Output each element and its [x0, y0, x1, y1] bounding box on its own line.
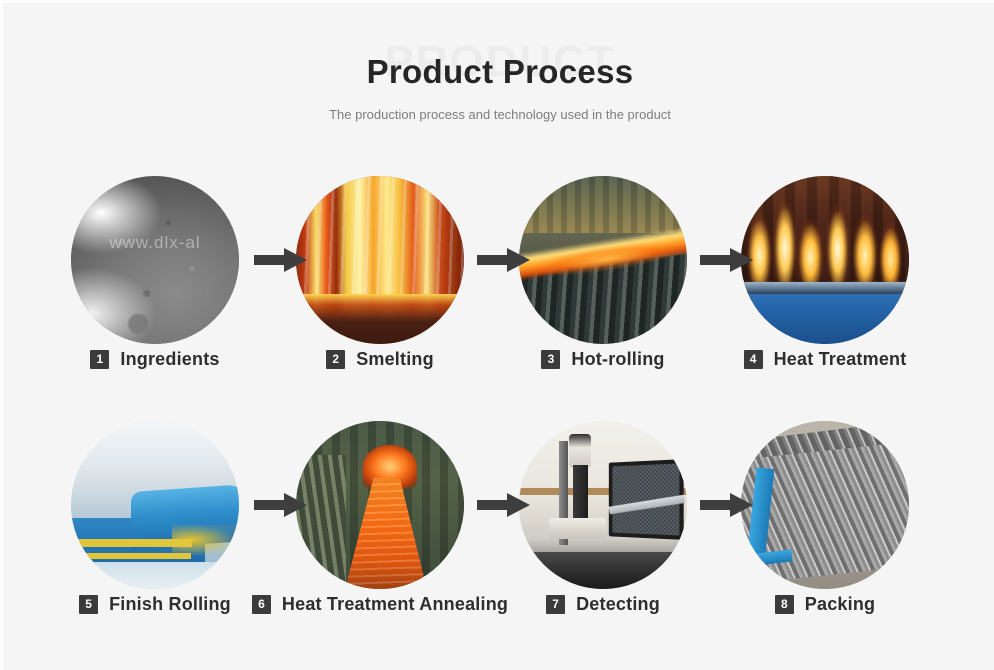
- micrograph-screen: [613, 464, 681, 537]
- step-image-ingredients: www.dlx-al: [71, 176, 239, 344]
- step-label-1: 1 Ingredients: [55, 349, 255, 370]
- step-label-text: Hot-rolling: [571, 349, 664, 370]
- packed-steel-bars-image: [741, 421, 909, 589]
- furnace-flames-image: [741, 176, 909, 344]
- process-step-8[interactable]: 8 Packing: [725, 408, 925, 658]
- desk: [519, 552, 687, 589]
- arrow-right-icon: [700, 492, 754, 518]
- step-number-badge: 6: [252, 595, 271, 614]
- step-label-text: Detecting: [576, 594, 660, 615]
- step-label-text: Smelting: [356, 349, 434, 370]
- step-label-2: 2 Smelting: [280, 349, 480, 370]
- product-process-page: PRODUCT Product Process The production p…: [0, 0, 994, 670]
- process-row-1: www.dlx-al 1 Ingredients 2 Smelting: [3, 163, 994, 413]
- microscope-stage: [549, 518, 606, 538]
- step-label-7: 7 Detecting: [503, 594, 703, 615]
- step-number-badge: 3: [541, 350, 560, 369]
- step-label-3: 3 Hot-rolling: [503, 349, 703, 370]
- step-label-text: Heat Treatment Annealing: [282, 594, 508, 615]
- annealing-line-hot-strip-image: [296, 421, 464, 589]
- hot-rolling-mill-line-image: [519, 176, 687, 344]
- finishing-mill-hall-image: [71, 421, 239, 589]
- step-label-text: Ingredients: [120, 349, 219, 370]
- step-image-packing: [741, 421, 909, 589]
- flames: [741, 189, 909, 283]
- step-number-badge: 7: [546, 595, 565, 614]
- step-image-heat-treatment: [741, 176, 909, 344]
- mill-ceiling: [519, 176, 687, 233]
- step-label-text: Finish Rolling: [109, 594, 231, 615]
- process-step-1[interactable]: www.dlx-al 1 Ingredients: [55, 163, 255, 413]
- hall-roof: [71, 421, 239, 492]
- arrow-right-icon: [254, 247, 308, 273]
- microscope-head: [569, 434, 591, 468]
- process-step-3[interactable]: 3 Hot-rolling: [503, 163, 703, 413]
- image-watermark: www.dlx-al: [71, 233, 239, 253]
- step-number-badge: 2: [326, 350, 345, 369]
- arrow-right-icon: [254, 492, 308, 518]
- step-number-badge: 1: [90, 350, 109, 369]
- page-title: Product Process: [3, 53, 994, 91]
- microscope-inspection-station-image: [519, 421, 687, 589]
- step-label-8: 8 Packing: [725, 594, 925, 615]
- molten-metal-pour-image: [296, 176, 464, 344]
- side-rack: [296, 455, 346, 589]
- step-image-smelting: [296, 176, 464, 344]
- gray-metal-powder-heap-image: www.dlx-al: [71, 176, 239, 344]
- step-image-heat-treatment-annealing: [296, 421, 464, 589]
- arrow-right-icon: [477, 492, 531, 518]
- step-label-6: 6 Heat Treatment Annealing: [220, 594, 540, 615]
- monitor: [609, 459, 684, 540]
- hall-floor: [71, 562, 239, 589]
- step-label-4: 4 Heat Treatment: [725, 349, 925, 370]
- step-number-badge: 5: [79, 595, 98, 614]
- arrow-right-icon: [700, 247, 754, 273]
- process-step-2[interactable]: 2 Smelting: [280, 163, 480, 413]
- step-image-finish-rolling: [71, 421, 239, 589]
- furnace-ledge: [741, 282, 909, 294]
- step-label-text: Heat Treatment: [774, 349, 907, 370]
- arrow-right-icon: [477, 247, 531, 273]
- yellow-handrail: [78, 539, 192, 547]
- step-image-detecting: [519, 421, 687, 589]
- step-label-text: Packing: [805, 594, 875, 615]
- process-step-4[interactable]: 4 Heat Treatment: [725, 163, 925, 413]
- step-image-hot-rolling: [519, 176, 687, 344]
- process-step-5[interactable]: 5 Finish Rolling: [55, 408, 255, 658]
- process-step-7[interactable]: 7 Detecting: [503, 408, 703, 658]
- step-number-badge: 8: [775, 595, 794, 614]
- page-header: PRODUCT Product Process The production p…: [3, 3, 994, 153]
- page-subtitle: The production process and technology us…: [3, 107, 994, 122]
- microscope-barrel: [573, 465, 588, 522]
- process-step-6[interactable]: 6 Heat Treatment Annealing: [280, 408, 480, 658]
- step-number-badge: 4: [744, 350, 763, 369]
- machine-base-blue: [741, 294, 909, 344]
- process-row-2: 5 Finish Rolling 6 Heat Treatment Anneal…: [3, 408, 994, 658]
